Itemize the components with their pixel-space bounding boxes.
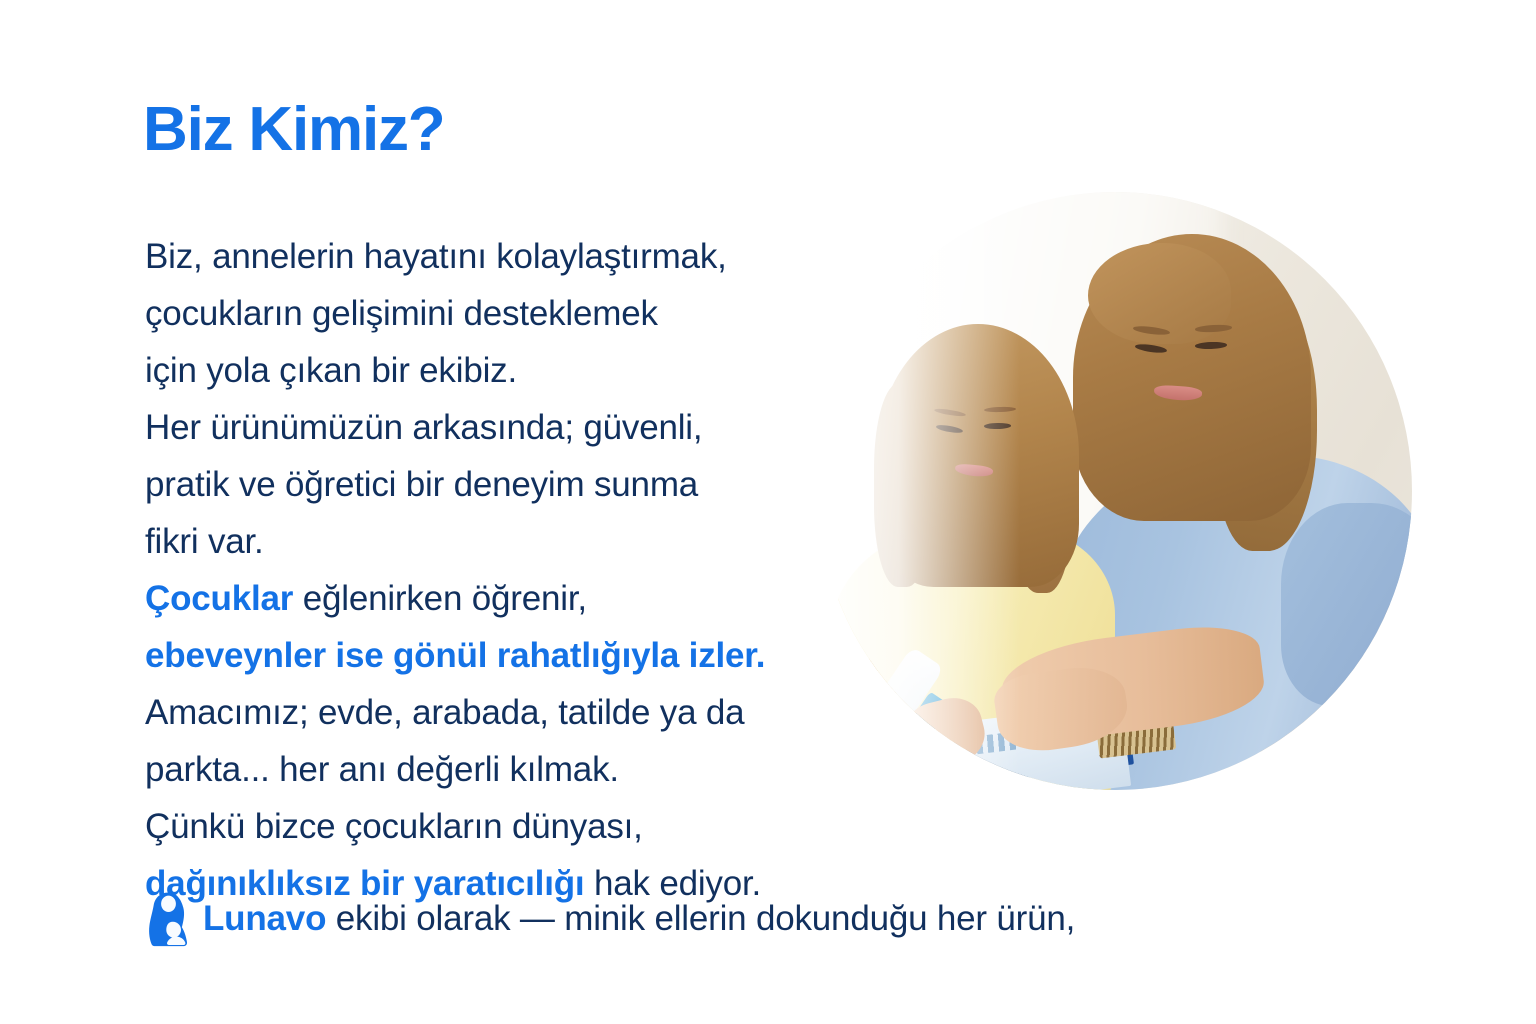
body-text: pratik ve öğretici bir deneyim sunma bbox=[145, 465, 698, 504]
body-line: pratik ve öğretici bir deneyim sunma bbox=[145, 456, 835, 513]
body-text: için yola çıkan bir ekibiz. bbox=[145, 351, 517, 390]
photo-inner bbox=[818, 192, 1412, 790]
body-line: Çocuklar eğlenirken öğrenir, bbox=[145, 570, 835, 627]
body-copy: Biz, annelerin hayatını kolaylaştırmak,ç… bbox=[145, 228, 835, 912]
body-text: Her ürünümüzün arkasında; güvenli, bbox=[145, 408, 702, 447]
page-title: Biz Kimiz? bbox=[143, 97, 444, 162]
accent-text: Çocuklar bbox=[145, 579, 293, 618]
accent-text: ebeveynler ise gönül rahatlığıyla izler. bbox=[145, 636, 765, 675]
mother-sleeve bbox=[1281, 503, 1412, 706]
body-line: çocukların gelişimini desteklemek bbox=[145, 285, 835, 342]
body-line: Her ürünümüzün arkasında; güvenli, bbox=[145, 399, 835, 456]
footer-text: Lunavo ekibi olarak — minik ellerin doku… bbox=[203, 890, 1075, 948]
body-text: parkta... her anı değerli kılmak. bbox=[145, 750, 619, 789]
body-line: Çünkü bizce çocukların dünyası, bbox=[145, 798, 835, 855]
footer-line: Lunavo ekibi olarak — minik ellerin doku… bbox=[145, 890, 1075, 948]
body-line: Amacımız; evde, arabada, tatilde ya da bbox=[145, 684, 835, 741]
body-text: fikri var. bbox=[145, 522, 264, 561]
brand-name: Lunavo bbox=[203, 899, 326, 938]
mother-and-child-icon bbox=[145, 890, 191, 948]
body-line: fikri var. bbox=[145, 513, 835, 570]
footer-tail: ekibi olarak — minik ellerin dokunduğu h… bbox=[326, 899, 1075, 938]
body-text: Çünkü bizce çocukların dünyası, bbox=[145, 807, 643, 846]
body-text: Biz, annelerin hayatını kolaylaştırmak, bbox=[145, 237, 727, 276]
body-text: Amacımız; evde, arabada, tatilde ya da bbox=[145, 693, 744, 732]
about-us-slide: Biz Kimiz? Biz, annelerin hayatını kolay… bbox=[0, 0, 1536, 1024]
body-line: Biz, annelerin hayatını kolaylaştırmak, bbox=[145, 228, 835, 285]
photo-left-fade bbox=[818, 192, 1020, 790]
body-text: eğlenirken öğrenir, bbox=[293, 579, 587, 618]
mother-and-daughter-photo bbox=[818, 192, 1412, 790]
body-text: çocukların gelişimini desteklemek bbox=[145, 294, 658, 333]
body-line: için yola çıkan bir ekibiz. bbox=[145, 342, 835, 399]
body-line: ebeveynler ise gönül rahatlığıyla izler. bbox=[145, 627, 835, 684]
body-line: parkta... her anı değerli kılmak. bbox=[145, 741, 835, 798]
